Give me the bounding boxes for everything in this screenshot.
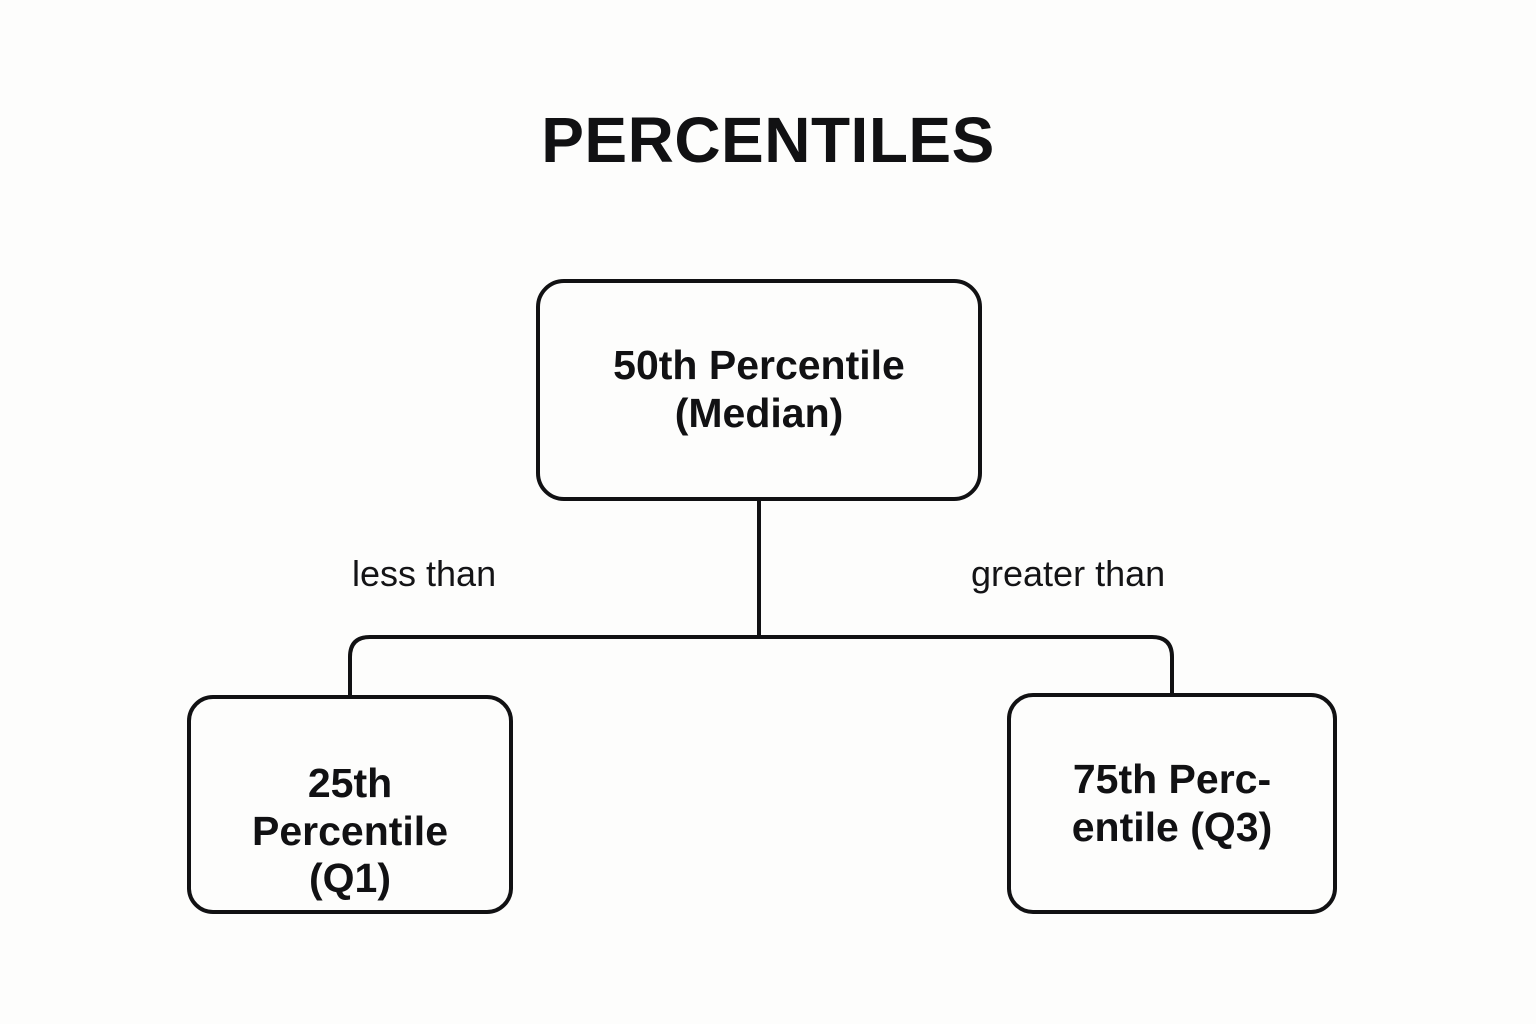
- node-median-line1: 50th Percentile: [613, 342, 905, 388]
- node-q1-line2: Percentile: [252, 808, 448, 854]
- diagram-canvas: PERCENTILES 50th Percentile(Median) 25th…: [0, 0, 1536, 1024]
- node-median-label: 50th Percentile(Median): [613, 342, 905, 437]
- node-q1-line3: (Q1): [309, 855, 391, 901]
- node-q1[interactable]: 25thPercentile(Q1): [187, 695, 513, 914]
- node-q3-line2: entile (Q3): [1072, 804, 1272, 850]
- node-q3-line1: 75th Perc-: [1073, 756, 1271, 802]
- node-q1-label: 25thPercentile(Q1): [246, 758, 454, 905]
- node-median-line2: (Median): [675, 390, 844, 436]
- node-q3-label: 75th Perc-entile (Q3): [1072, 756, 1272, 851]
- page-title: PERCENTILES: [0, 108, 1536, 172]
- connector-right-branch: [759, 637, 1172, 695]
- node-q3[interactable]: 75th Perc-entile (Q3): [1007, 693, 1337, 914]
- edge-label-greater-than: greater than: [971, 556, 1165, 592]
- node-q1-line1: 25th: [308, 760, 392, 806]
- node-median[interactable]: 50th Percentile(Median): [536, 279, 982, 501]
- connector-left-branch: [350, 637, 759, 695]
- edge-label-less-than: less than: [352, 556, 496, 592]
